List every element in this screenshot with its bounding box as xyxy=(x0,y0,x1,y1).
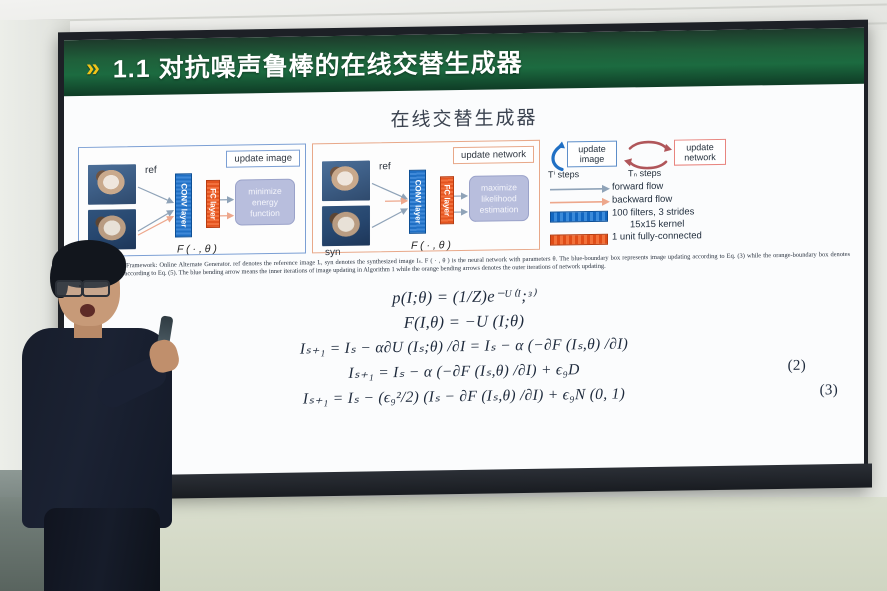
equation-text: Iₛ₊₁ = Iₛ − (ϵ₉²/2) (Iₛ − ∂F (Iₛ,θ) /∂I)… xyxy=(303,385,625,407)
legend-fc-desc: 1 unit fully-connected xyxy=(612,230,702,242)
presenter xyxy=(0,236,190,591)
slide-header-bar: » 1.1 对抗噪声鲁棒的在线交替生成器 xyxy=(64,28,864,97)
minimize-energy-box: minimize energy function xyxy=(235,179,295,226)
panel-tag-update-image: update image xyxy=(226,150,300,168)
equation-number: (3) xyxy=(820,378,838,403)
eyeglasses-right-lens-icon xyxy=(82,280,110,297)
presenter-trousers xyxy=(44,508,160,591)
fc-layer-label-right: FC layer xyxy=(443,184,452,216)
legend-tn-steps: Tₙ steps xyxy=(628,168,661,180)
legend-conv-desc-1: 100 filters, 3 strides xyxy=(612,206,694,218)
slide-title: 1.1 对抗噪声鲁棒的在线交替生成器 xyxy=(113,43,523,85)
equation-text: Iₛ₊₁ = Iₛ − α (−∂F (Iₛ,θ) /∂I) + ϵ₉D xyxy=(348,361,579,382)
eyeglasses-left-lens-icon xyxy=(55,280,83,297)
label-ref-left: ref xyxy=(145,165,157,176)
maximize-likelihood-box: maximize likelihood estimation xyxy=(469,175,529,222)
reference-image-thumbnail xyxy=(88,164,136,205)
legend-update-image-box: update image xyxy=(567,141,617,168)
synthesized-image-thumbnail-right xyxy=(322,205,370,246)
equation-text: Iₛ₊₁ = Iₛ − α∂U (Iₛ;θ) /∂I = Iₛ − α (−∂F… xyxy=(300,335,628,357)
legend-backward-flow-label: backward flow xyxy=(612,194,672,206)
legend-backward-arrow-icon xyxy=(550,197,612,208)
conv-layer-block-left: CONV layer xyxy=(175,173,192,237)
equation-text: p(I;θ) = (1/Z)e⁻ᵁ⁽ᴵ;ᶟ⁾ xyxy=(392,286,535,307)
legend-forward-flow-label: forward flow xyxy=(612,181,663,193)
fc-layer-block-left: FC layer xyxy=(206,180,220,228)
fc-layer-block-right: FC layer xyxy=(440,176,454,224)
legend-ti-steps: Tⁱ steps xyxy=(548,169,579,180)
figure-legend: update image update network Tⁱ steps Tₙ … xyxy=(546,137,734,248)
fc-layer-label-left: FC layer xyxy=(209,188,218,220)
double-chevron-icon: » xyxy=(86,53,95,82)
legend-conv-swatch xyxy=(550,211,608,223)
function-label-right: F ( · , θ ) xyxy=(411,239,451,252)
slide-subtitle: 在线交替生成器 xyxy=(64,98,864,138)
presenter-mouth xyxy=(80,304,95,317)
legend-fc-swatch xyxy=(550,234,608,246)
legend-conv-desc-2: 15x15 kernel xyxy=(630,219,684,231)
conv-layer-label-right: CONV layer xyxy=(413,180,422,224)
equation-text: F(I,θ) = −U (I;θ) xyxy=(404,311,525,332)
conv-layer-block-right: CONV layer xyxy=(409,170,426,234)
lecture-photo-scene: » 1.1 对抗噪声鲁棒的在线交替生成器 在线交替生成器 xyxy=(0,0,887,591)
reference-image-thumbnail-right xyxy=(322,160,370,201)
equation-number: (2) xyxy=(788,353,806,378)
label-ref-right: ref xyxy=(379,161,391,172)
legend-forward-arrow-icon xyxy=(550,184,612,195)
conv-layer-label-left: CONV layer xyxy=(179,183,188,227)
eyeglasses-bridge xyxy=(79,285,84,287)
label-syn-right: syn xyxy=(325,247,341,258)
panel-tag-update-network: update network xyxy=(453,146,534,164)
panel-update-network: update network ref syn CONV layer FC lay… xyxy=(312,140,540,254)
framework-figure: update image ref syn CONV layer FC layer… xyxy=(78,135,864,257)
legend-update-network-box: update network xyxy=(674,139,726,166)
